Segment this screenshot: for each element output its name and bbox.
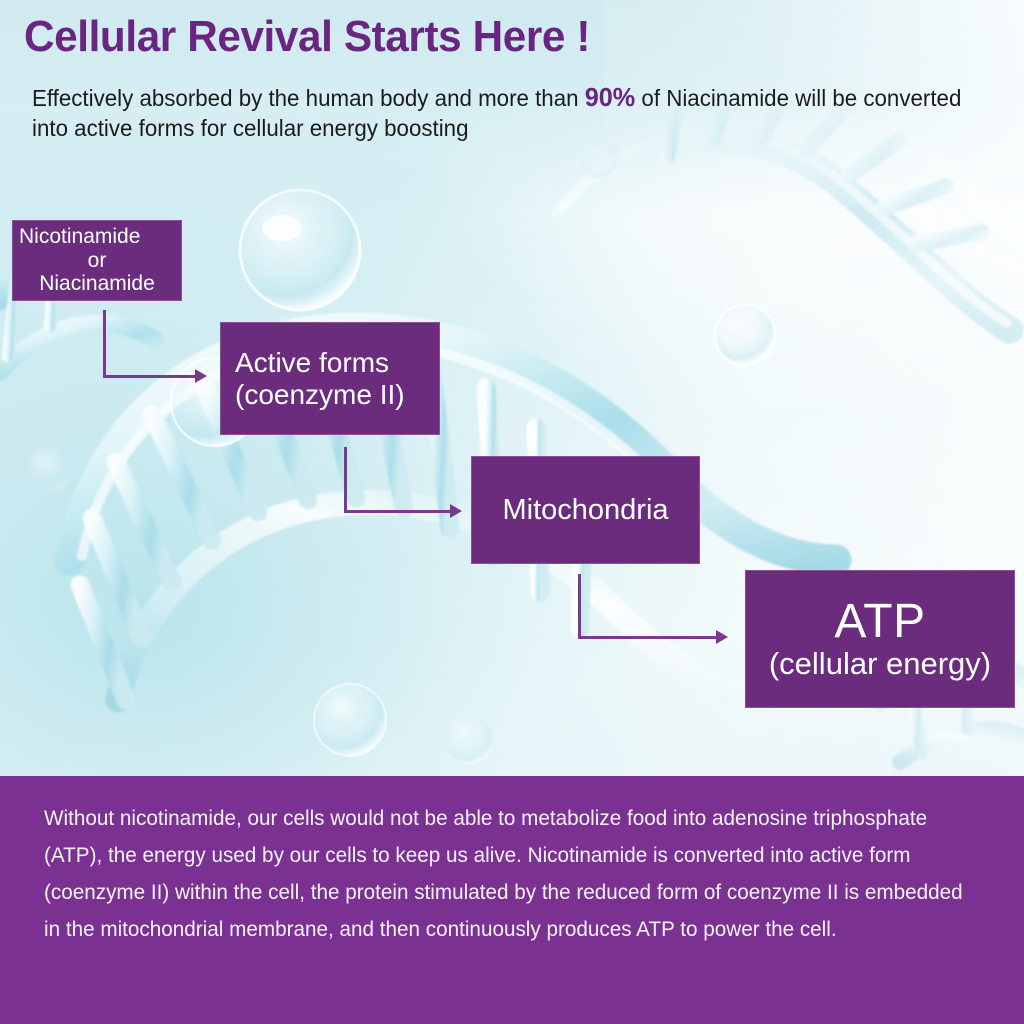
connector-3-horizontal: [578, 636, 718, 639]
arrow-right-icon-mitochondria-to-atp: [0, 0, 1024, 776]
connector-3-vertical: [578, 574, 581, 639]
infographic-canvas: Cellular Revival Starts Here ! Effective…: [0, 0, 1024, 1024]
bottom-banner-paragraph: Without nicotinamide, our cells would no…: [44, 800, 980, 948]
bottom-banner: Without nicotinamide, our cells would no…: [0, 776, 1024, 1024]
connector-3-arrowhead: [716, 630, 728, 644]
